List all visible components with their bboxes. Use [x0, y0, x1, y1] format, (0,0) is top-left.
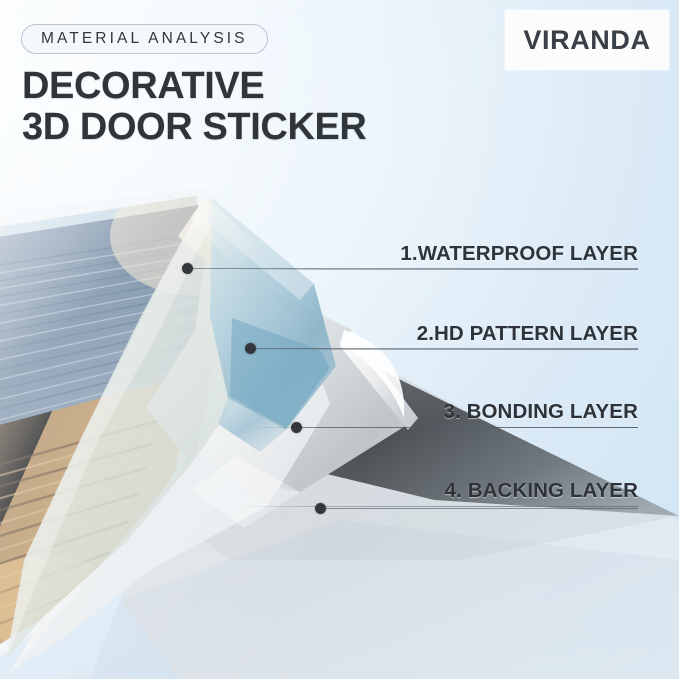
- callout-dot-waterproof: [182, 263, 193, 274]
- callout-rule: [238, 506, 638, 507]
- title-line-2: 3D DOOR STICKER: [22, 107, 366, 148]
- eyebrow-badge: MATERIAL ANALYSIS: [21, 24, 268, 54]
- brand-logo: VIRANDA: [505, 10, 669, 70]
- callout-dot-hd-pattern: [245, 343, 256, 354]
- leader-line-bonding: [301, 427, 638, 428]
- eyebrow-label: MATERIAL ANALYSIS: [41, 30, 248, 48]
- callout-hd-pattern: 2.HD PATTERN LAYER: [238, 322, 638, 350]
- callout-backing: 4. BACKING LAYER: [238, 479, 638, 507]
- infographic-canvas: MATERIAL ANALYSIS DECORATIVE 3D DOOR STI…: [0, 0, 679, 679]
- brand-name: VIRANDA: [523, 25, 650, 56]
- page-title: DECORATIVE 3D DOOR STICKER: [22, 66, 366, 148]
- callout-dot-backing: [315, 503, 326, 514]
- leader-line-backing: [325, 508, 638, 509]
- leader-line-waterproof: [192, 268, 638, 269]
- title-line-1: DECORATIVE: [22, 65, 264, 107]
- callout-label: 3. BONDING LAYER: [238, 400, 638, 424]
- callout-rule: [238, 269, 638, 270]
- callout-rule: [238, 349, 638, 350]
- leader-line-hd-pattern: [255, 348, 638, 349]
- callout-dot-bonding: [291, 422, 302, 433]
- callout-label: 4. BACKING LAYER: [238, 479, 638, 503]
- callout-label: 2.HD PATTERN LAYER: [238, 322, 638, 346]
- callout-label: 1.WATERPROOF LAYER: [238, 242, 638, 266]
- callout-waterproof: 1.WATERPROOF LAYER: [238, 242, 638, 270]
